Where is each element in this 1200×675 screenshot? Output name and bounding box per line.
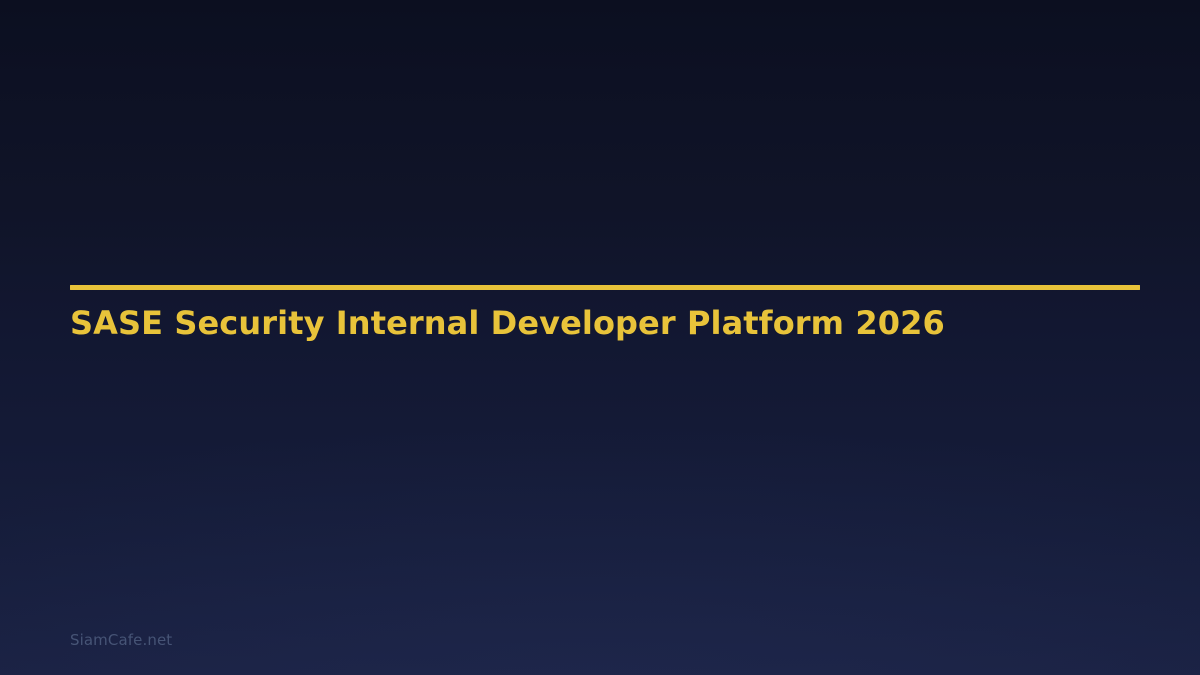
page-title: SASE Security Internal Developer Platfor… (70, 303, 945, 343)
accent-rule-divider (70, 285, 1140, 290)
footer-brand-label: SiamCafe.net (70, 630, 172, 650)
title-slide: SASE Security Internal Developer Platfor… (0, 0, 1200, 675)
